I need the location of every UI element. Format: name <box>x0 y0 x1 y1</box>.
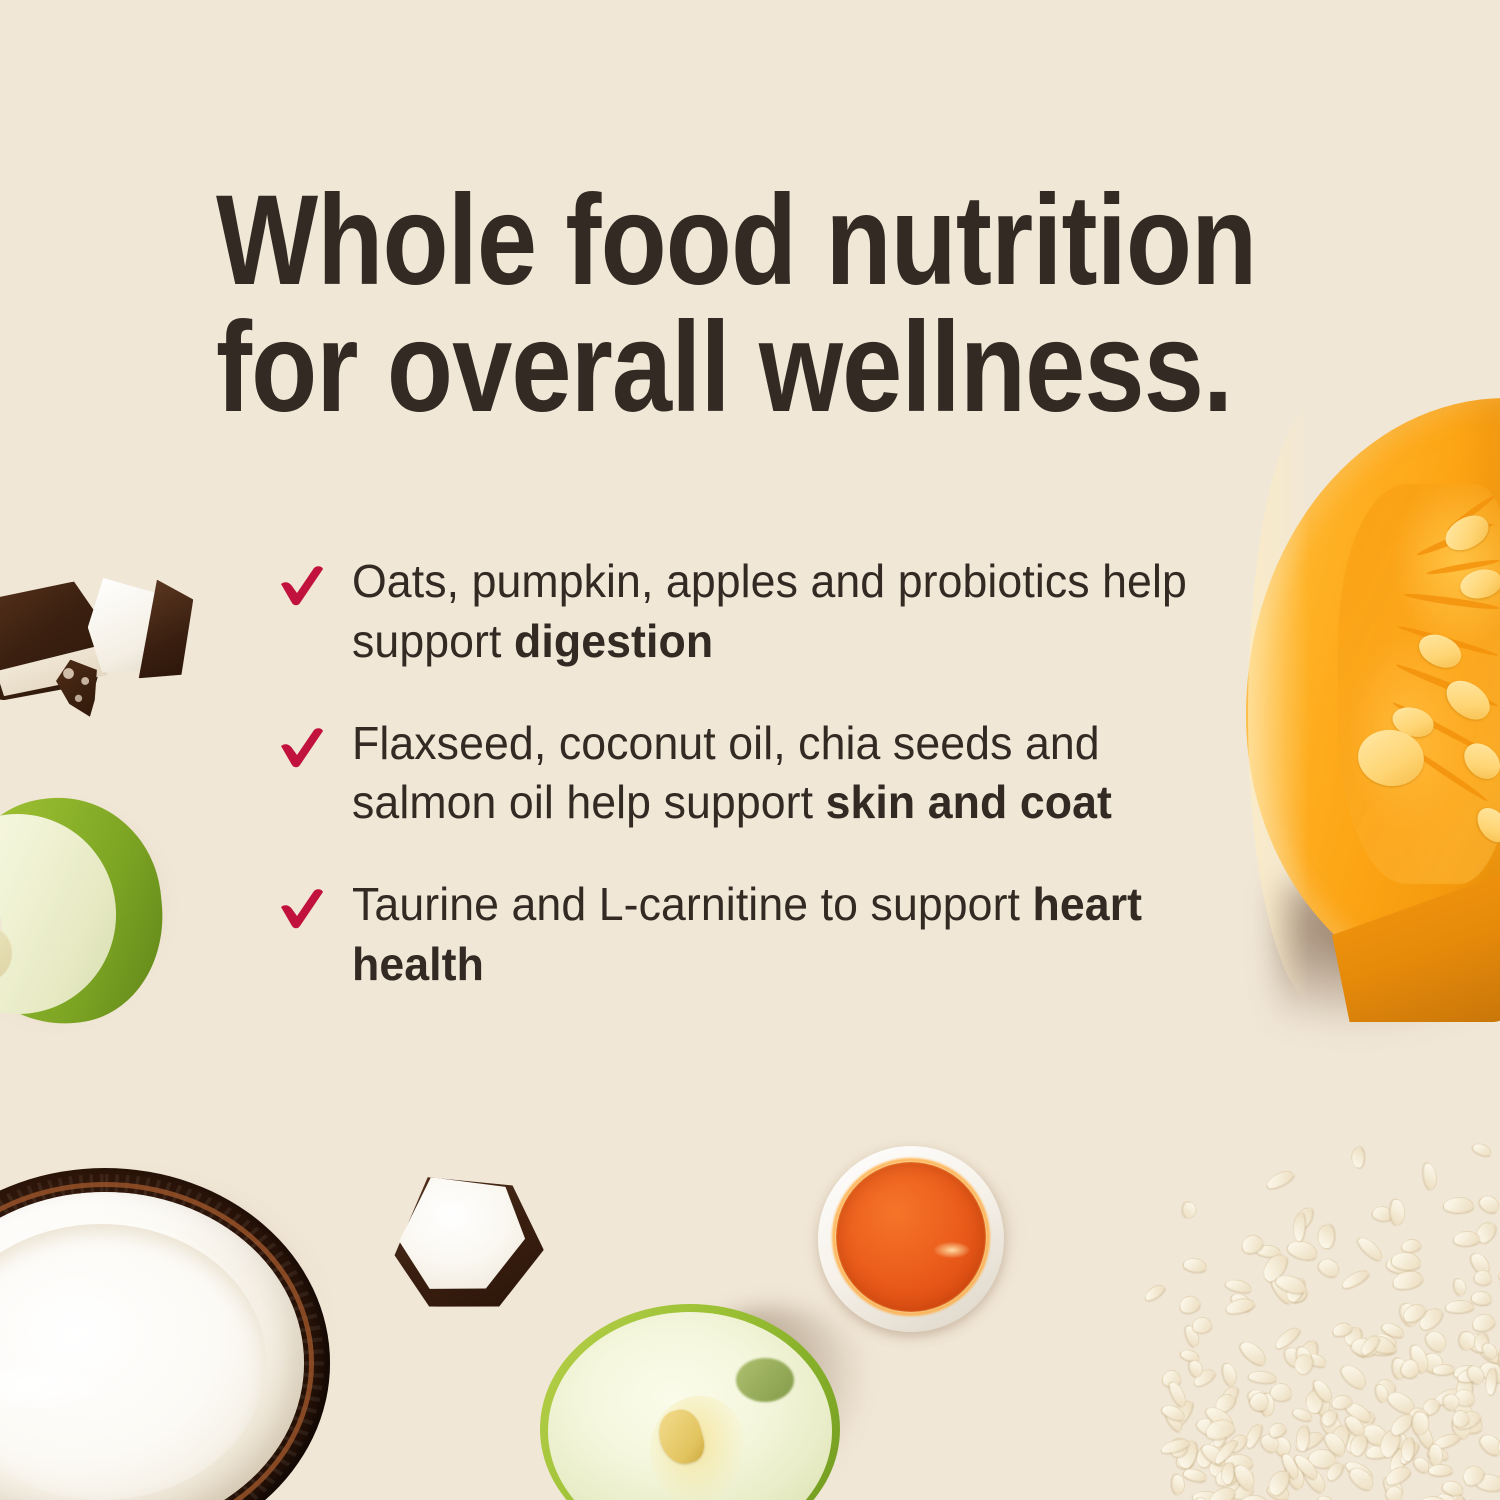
oat-flake <box>1473 1269 1493 1287</box>
oat-flake <box>1390 1198 1406 1226</box>
oat-flake <box>1431 1363 1455 1375</box>
oat-flake <box>1316 1493 1336 1500</box>
oat-flake <box>1171 1474 1185 1496</box>
oat-flake <box>1442 1197 1473 1213</box>
oat-flake <box>1182 1466 1208 1483</box>
oat-flake <box>1292 1212 1306 1243</box>
oat-flake <box>1247 1370 1277 1385</box>
headline-line-2: for overall wellness. <box>216 305 1146 432</box>
oat-flake <box>1224 1296 1256 1316</box>
check-icon <box>278 726 326 768</box>
oat-flake <box>1351 1147 1365 1169</box>
oat-flake <box>1339 1266 1371 1291</box>
oat-flake <box>1477 1191 1500 1216</box>
oat-flake <box>1422 1161 1439 1191</box>
oat-flake <box>1452 1276 1468 1297</box>
salmon-oil-bowl-image <box>818 1146 1018 1346</box>
oil-meniscus <box>832 1158 990 1316</box>
oat-flake <box>1355 1233 1386 1263</box>
oat-flake <box>1315 1255 1343 1281</box>
oat-flake <box>1317 1223 1335 1249</box>
oat-flake <box>1183 1201 1197 1218</box>
list-item-emphasis: skin and coat <box>826 776 1112 828</box>
oat-flake <box>1470 1311 1496 1333</box>
headline-line-1: Whole food nutrition <box>216 178 1146 305</box>
list-item-text: Oats, pumpkin, apples and probiotics hel… <box>352 552 1211 672</box>
oat-flake <box>1428 1464 1454 1476</box>
apple-stem-well <box>736 1358 794 1402</box>
list-item-plain: Oats, pumpkin, apples and probiotics hel… <box>352 555 1187 667</box>
oat-flake <box>1182 1256 1207 1273</box>
marketing-banner: Whole food nutrition for overall wellnes… <box>0 0 1500 1500</box>
oat-flake <box>1452 1230 1479 1246</box>
list-item-text: Taurine and L-carnitine to support heart… <box>352 875 1211 995</box>
oat-flake <box>1220 1361 1238 1387</box>
oat-flake <box>1192 1316 1213 1334</box>
oat-flake <box>1285 1237 1320 1263</box>
list-item: Taurine and L-carnitine to support heart… <box>278 875 1238 995</box>
oat-flake <box>1237 1336 1271 1368</box>
list-item-emphasis: digestion <box>514 615 713 667</box>
list-item-text: Flaxseed, coconut oil, chia seeds and sa… <box>352 714 1211 834</box>
pumpkin-rind-highlight <box>1248 400 1320 1006</box>
rolled-oats-image <box>1130 1140 1500 1500</box>
benefit-list: Oats, pumpkin, apples and probiotics hel… <box>278 552 1238 995</box>
list-item: Flaxseed, coconut oil, chia seeds and sa… <box>278 714 1238 834</box>
oat-flake <box>1177 1293 1202 1315</box>
check-icon <box>278 887 326 929</box>
list-item: Oats, pumpkin, apples and probiotics hel… <box>278 552 1238 672</box>
oat-flake <box>1477 1429 1500 1458</box>
list-item-plain: Taurine and L-carnitine to support <box>352 878 1033 930</box>
oat-flake <box>1141 1281 1166 1303</box>
oat-flake <box>1224 1276 1253 1294</box>
headline: Whole food nutrition for overall wellnes… <box>216 178 1146 431</box>
oat-flake <box>1264 1168 1297 1193</box>
oat-flake <box>1471 1141 1494 1159</box>
oat-flake <box>1445 1300 1475 1314</box>
oat-flake <box>1470 1289 1493 1305</box>
apple-slice-image <box>0 798 184 1030</box>
coconut-chunk-image <box>390 1173 547 1310</box>
check-icon <box>278 564 326 606</box>
coconut-half-image <box>0 1168 350 1500</box>
oil-highlight <box>934 1242 970 1258</box>
pumpkin-half-image <box>1246 398 1500 1020</box>
oat-flake <box>1337 1360 1371 1393</box>
